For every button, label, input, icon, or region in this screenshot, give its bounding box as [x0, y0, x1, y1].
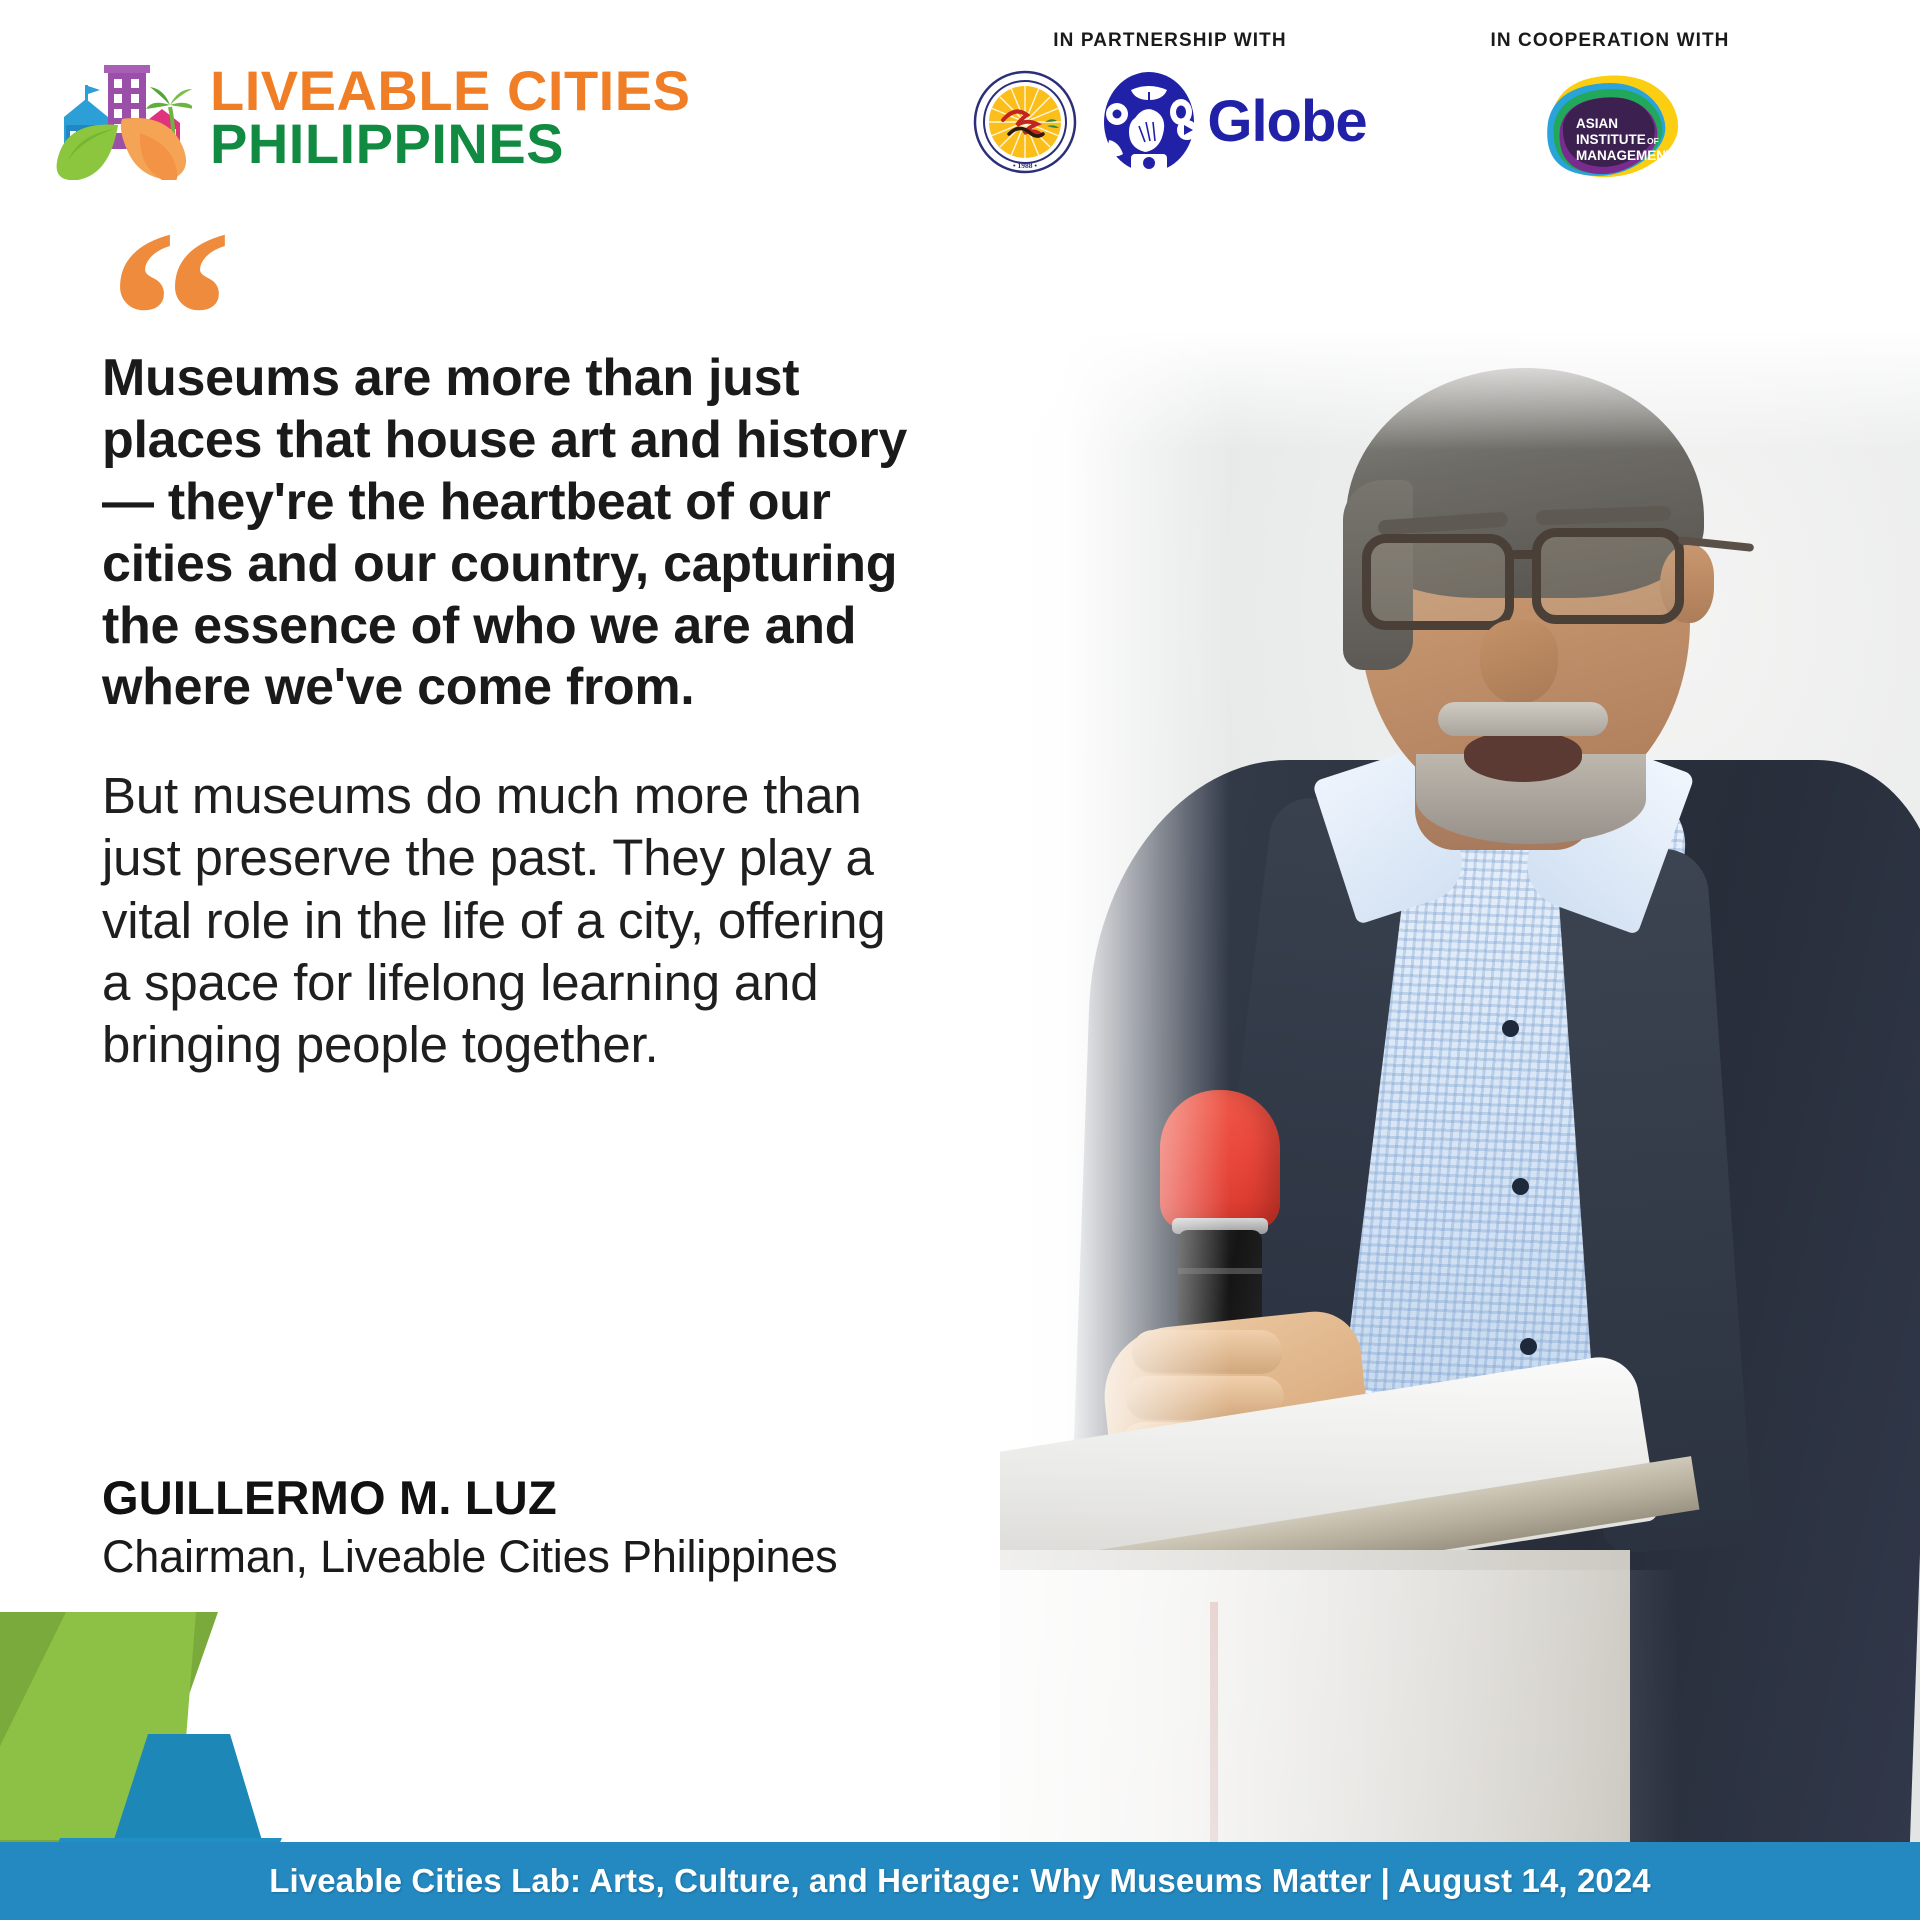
- globe-wordmark: Globe: [1207, 93, 1366, 151]
- partnership-caption: IN PARTNERSHIP WITH: [1053, 30, 1286, 52]
- liveable-cities-philippines-logo: LIVEABLE CITIES PHILIPPINES: [52, 55, 690, 180]
- city-leaf-hand-icon: [52, 55, 192, 180]
- shirt-button: [1512, 1178, 1529, 1195]
- globe-sphere-icon: [1101, 70, 1197, 174]
- globe-logo: Globe: [1101, 70, 1366, 174]
- nose: [1480, 620, 1558, 704]
- glasses-lens-right: [1532, 528, 1684, 624]
- partnership-logos: • 1988 •: [973, 70, 1366, 174]
- mustache: [1438, 702, 1608, 736]
- brand-line-liveable-cities: LIVEABLE CITIES: [210, 65, 690, 117]
- asian-institute-of-management-icon: ASIAN INSTITUTE OF MANAGEMENT: [1530, 70, 1690, 182]
- shirt-button: [1520, 1338, 1537, 1355]
- footer-event-text: Liveable Cities Lab: Arts, Culture, and …: [269, 1862, 1651, 1900]
- svg-text:MANAGEMENT: MANAGEMENT: [1576, 148, 1675, 163]
- brand-line-philippines: PHILIPPINES: [210, 118, 690, 170]
- glasses-lens-left: [1362, 534, 1514, 630]
- glasses-temple: [1678, 536, 1754, 552]
- quote-secondary-paragraph: But museums do much more than just prese…: [102, 765, 922, 1076]
- header: LIVEABLE CITIES PHILIPPINES IN PARTNERSH…: [0, 0, 1920, 210]
- quote-card: LIVEABLE CITIES PHILIPPINES IN PARTNERSH…: [0, 0, 1920, 1920]
- brand-wordmark: LIVEABLE CITIES PHILIPPINES: [210, 65, 690, 169]
- league-of-cities-seal-icon: • 1988 •: [973, 70, 1077, 174]
- partnership-block: IN PARTNERSHIP WITH: [960, 30, 1380, 174]
- svg-text:INSTITUTE: INSTITUTE: [1576, 132, 1646, 147]
- footer-bar: Liveable Cities Lab: Arts, Culture, and …: [0, 1842, 1920, 1920]
- svg-text:• 1988 •: • 1988 •: [1013, 161, 1037, 170]
- quote-lead-paragraph: Museums are more than just places that h…: [102, 348, 922, 719]
- eyeglasses-icon: [1356, 526, 1726, 636]
- svg-text:OF: OF: [1647, 136, 1659, 146]
- glasses-bridge: [1511, 550, 1539, 559]
- mouth: [1464, 732, 1582, 782]
- cooperation-block: IN COOPERATION WITH ASIAN INSTITUTE OF: [1400, 30, 1820, 182]
- speaker-photo: [1000, 330, 1920, 1890]
- cooperation-caption: IN COOPERATION WITH: [1490, 30, 1729, 52]
- cooperation-logos: ASIAN INSTITUTE OF MANAGEMENT: [1530, 70, 1690, 182]
- svg-text:ASIAN: ASIAN: [1576, 116, 1618, 131]
- shirt-button: [1502, 1020, 1519, 1037]
- quote-body: Museums are more than just places that h…: [102, 348, 922, 1076]
